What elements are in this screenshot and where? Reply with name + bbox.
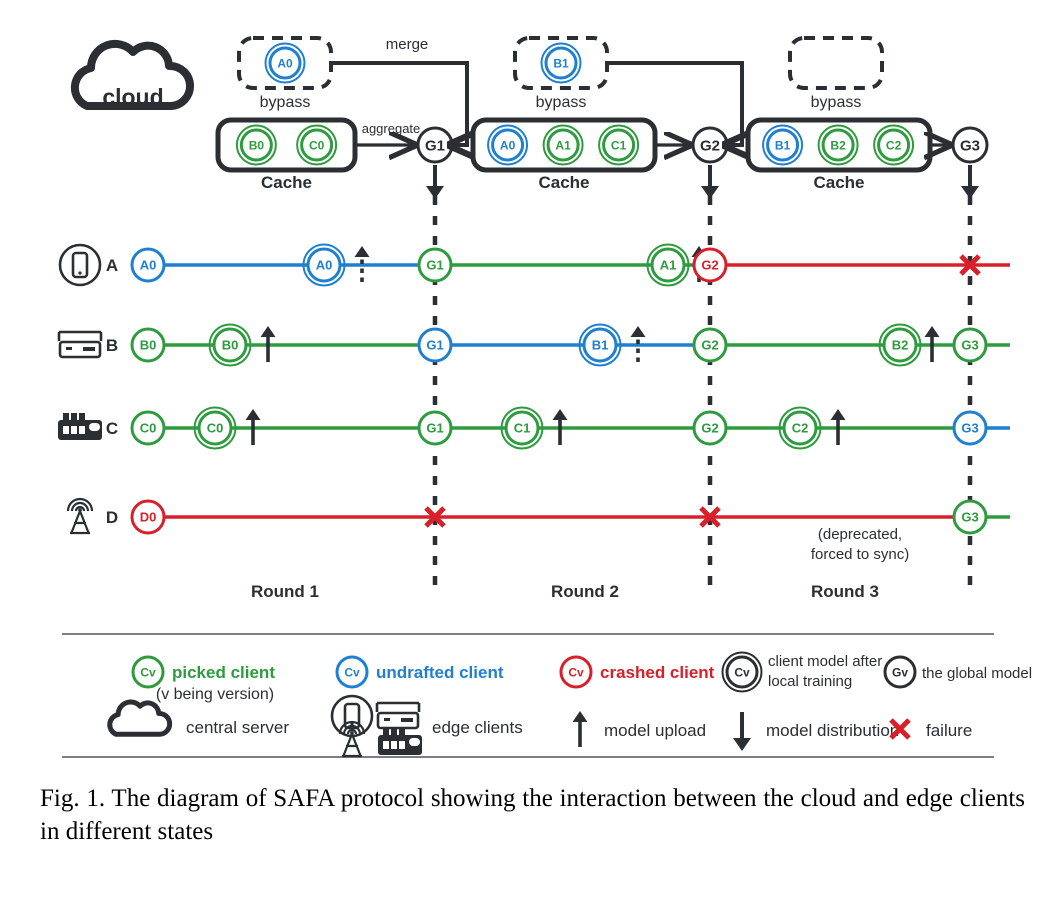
- upload-arrow-C-0-head: [246, 409, 261, 420]
- upload-arrow-B-1-head: [631, 326, 646, 337]
- router-icon-led: [66, 347, 72, 350]
- round-label-3: Round 3: [811, 582, 879, 601]
- legend-global-model-node-label: Gv: [892, 665, 908, 679]
- legend-antenna-icon: [342, 734, 362, 757]
- iot-board-icon-sock2: [79, 426, 85, 434]
- cache-node-r3-2-label: C2: [886, 138, 902, 152]
- aggregate-label-r1: aggregate: [362, 121, 421, 136]
- router-icon-port: [83, 347, 95, 351]
- timeline-node-A-4-label: G2: [701, 258, 718, 273]
- legend-board-icon-pin2: [399, 728, 405, 736]
- legend-board-icon-pin1: [391, 728, 397, 736]
- iot-board-icon-sock1: [71, 426, 77, 434]
- smartphone-icon: [60, 245, 100, 285]
- merge-label-r1: merge: [386, 36, 429, 53]
- timeline-node-A-2-label: G1: [426, 258, 443, 273]
- timeline-node-C-0-label: C0: [140, 421, 157, 436]
- legend-picked-label: picked client: [172, 663, 275, 682]
- iot-board-icon-chip: [89, 423, 100, 431]
- legend-undrafted-label: undrafted client: [376, 663, 504, 682]
- legend-board-icon-sock0: [383, 741, 389, 749]
- upload-arrow-B-2-head: [925, 326, 940, 337]
- legend-picked-node-label: Cv: [140, 665, 156, 679]
- legend-global-model-label: the global model: [922, 665, 1032, 682]
- cache-label-r2: Cache: [538, 173, 589, 192]
- legend-model-distribution-label: model distribution: [766, 721, 899, 740]
- figure-caption: Fig. 1. The diagram of SAFA protocol sho…: [40, 782, 1025, 849]
- legend-distribution-arrow-head: [733, 738, 751, 751]
- round-label-2: Round 2: [551, 582, 619, 601]
- cache-node-r2-1-label: A1: [555, 138, 571, 152]
- cache-node-r2-2-label: C1: [611, 138, 627, 152]
- timeline-node-C-2-label: G1: [426, 421, 443, 436]
- cache-label-r3: Cache: [813, 173, 864, 192]
- bypass-label-r2: bypass: [536, 94, 587, 111]
- timeline-node-C-6-label: G3: [961, 421, 978, 436]
- legend-board-icon-chip: [409, 738, 420, 746]
- timeline-node-B-4-label: G2: [701, 338, 718, 353]
- legend-router-icon-ant: [377, 703, 419, 712]
- bypass-node-r2-0-label: B1: [553, 56, 569, 70]
- timeline-node-C-4-label: G2: [701, 421, 718, 436]
- legend-undrafted-node-label: Cv: [344, 665, 360, 679]
- diagram-canvas: cloudA0bypassB0C0CacheaggregateG1mergeB1…: [0, 0, 1055, 912]
- smartphone-icon-btn: [78, 271, 81, 274]
- legend-crashed-label: crashed client: [600, 663, 715, 682]
- note-D-0-1: forced to sync): [811, 546, 909, 563]
- iot-board-icon-sock0: [63, 426, 69, 434]
- bypass-label-r1: bypass: [260, 94, 311, 111]
- timeline-node-C-5-label: C2: [792, 421, 809, 436]
- legend-central-server-label: central server: [186, 718, 289, 737]
- bypass-node-r1-0-label: A0: [277, 56, 293, 70]
- row-label-D: D: [106, 508, 118, 527]
- row-label-B: B: [106, 336, 118, 355]
- round-label-1: Round 1: [251, 582, 319, 601]
- cloud-label: cloud: [102, 84, 163, 110]
- timeline-node-A-1-label: A0: [316, 258, 333, 273]
- legend-local-model-line1: client model after: [768, 653, 882, 670]
- server-global-r3-label: G3: [960, 137, 980, 154]
- upload-arrow-C-2-head: [831, 409, 846, 420]
- legend-upload-arrow-head: [573, 711, 588, 722]
- cache-node-r2-0-label: A0: [500, 138, 516, 152]
- cache-label-r1: Cache: [261, 173, 312, 192]
- legend-local-model-line2: local training: [768, 673, 852, 690]
- legend-router-icon-led: [384, 718, 390, 721]
- cache-node-r1-1-label: C0: [309, 138, 325, 152]
- timeline-node-A-3-label: A1: [660, 258, 677, 273]
- legend-failure-label: failure: [926, 721, 972, 740]
- row-label-C: C: [106, 419, 118, 438]
- upload-arrow-C-1-head: [553, 409, 568, 420]
- server-global-r2-label: G2: [700, 137, 720, 154]
- iot-board-icon-pin0: [63, 413, 69, 421]
- server-global-r1-label: G1: [425, 137, 445, 154]
- legend-router-icon-port: [401, 718, 413, 722]
- cache-node-r3-1-label: B2: [830, 138, 846, 152]
- legend-local-model-node-label: Cv: [734, 665, 750, 679]
- legend-picked-sub: (v being version): [156, 686, 274, 703]
- timeline-node-D-0-label: D0: [140, 510, 157, 525]
- iot-board-icon-pin2: [79, 413, 85, 421]
- bypass-label-r3: bypass: [811, 94, 862, 111]
- timeline-node-B-5-label: B2: [892, 338, 909, 353]
- upload-arrow-A-0-head: [355, 246, 370, 257]
- timeline-node-B-6-label: G3: [961, 338, 978, 353]
- cache-node-r1-0-label: B0: [249, 138, 265, 152]
- router-icon-ant: [59, 332, 101, 341]
- upload-arrow-B-0-head: [261, 326, 276, 337]
- antenna-icon: [70, 511, 90, 534]
- timeline-node-B-0-label: B0: [140, 338, 157, 353]
- row-label-A: A: [106, 256, 118, 275]
- legend-board-icon-sock2: [399, 741, 405, 749]
- legend-cloud-icon: [110, 702, 170, 734]
- legend-crashed-node-label: Cv: [568, 665, 584, 679]
- timeline-node-D-1-label: G3: [961, 510, 978, 525]
- iot-board-icon-pin1: [71, 413, 77, 421]
- timeline-node-B-1-label: B0: [222, 338, 239, 353]
- timeline-node-A-0-label: A0: [140, 258, 157, 273]
- antenna-icon-dot: [78, 508, 82, 512]
- legend-edge-clients-label: edge clients: [432, 718, 523, 737]
- figure-root: cloudA0bypassB0C0CacheaggregateG1mergeB1…: [0, 0, 1055, 912]
- cache-node-r3-0-label: B1: [775, 138, 791, 152]
- note-D-0-0: (deprecated,: [818, 526, 902, 543]
- timeline-node-B-2-label: G1: [426, 338, 443, 353]
- legend-antenna-icon-dot: [350, 731, 354, 735]
- bypass-box-r3: [790, 38, 882, 88]
- legend-board-icon-sock1: [391, 741, 397, 749]
- cache-box-r1: [218, 120, 355, 170]
- legend-model-upload-label: model upload: [604, 721, 706, 740]
- timeline-node-C-3-label: C1: [514, 421, 531, 436]
- timeline-node-B-3-label: B1: [592, 338, 609, 353]
- legend-board-icon-pin0: [383, 728, 389, 736]
- timeline-node-C-1-label: C0: [207, 421, 224, 436]
